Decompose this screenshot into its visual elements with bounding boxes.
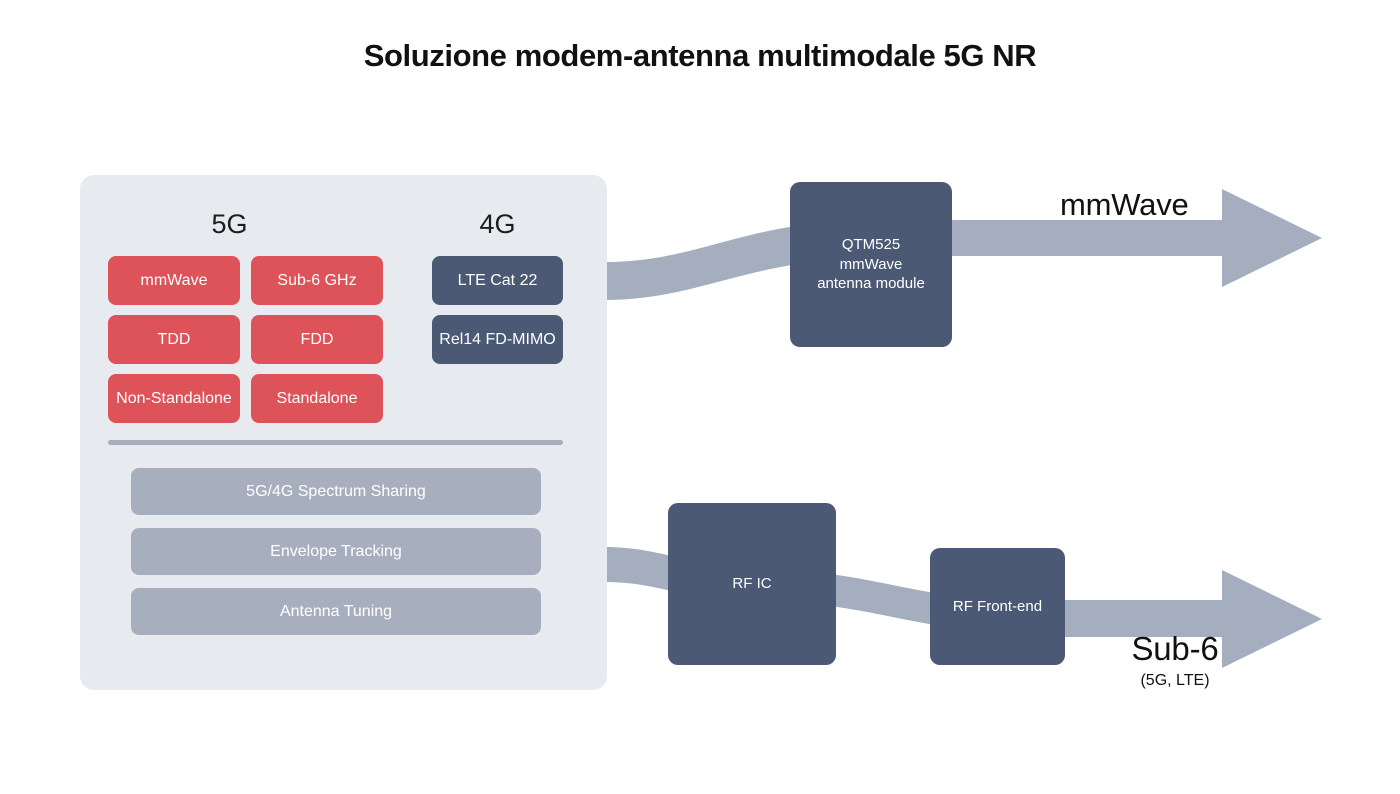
page-title: Soluzione modem-antenna multimodale 5G N…: [0, 38, 1400, 74]
chip-rf-front-end[interactable]: RF Front-end: [930, 548, 1065, 665]
flow-label-mmwave: mmWave: [1060, 187, 1189, 223]
pill-fdd[interactable]: FDD: [251, 315, 383, 364]
diagram-canvas: Soluzione modem-antenna multimodale 5G N…: [0, 0, 1400, 794]
chip-qtm525-label: QTM525mmWaveantenna module: [817, 235, 925, 294]
pill-standalone[interactable]: Standalone: [251, 374, 383, 423]
flow-label-sub6: Sub-6: [1110, 630, 1240, 668]
feature-bar-spectrum-sharing[interactable]: 5G/4G Spectrum Sharing: [131, 468, 541, 515]
pill-mmwave[interactable]: mmWave: [108, 256, 240, 305]
pill-sub6-ghz[interactable]: Sub-6 GHz: [251, 256, 383, 305]
column-heading-5g: 5G: [107, 209, 352, 240]
chip-rf-ic-label: RF IC: [732, 574, 771, 594]
chip-rf-ic[interactable]: RF IC: [668, 503, 836, 665]
chip-qtm525-mmwave-antenna-module[interactable]: QTM525mmWaveantenna module: [790, 182, 952, 347]
panel-divider: [108, 440, 563, 445]
feature-bar-antenna-tuning[interactable]: Antenna Tuning: [131, 588, 541, 635]
pill-rel14-fd-mimo[interactable]: Rel14 FD-MIMO: [432, 315, 563, 364]
chip-rf-front-end-label: RF Front-end: [953, 597, 1042, 617]
column-heading-4g: 4G: [432, 209, 563, 240]
pill-tdd[interactable]: TDD: [108, 315, 240, 364]
feature-bar-envelope-tracking[interactable]: Envelope Tracking: [131, 528, 541, 575]
flow-sublabel-sub6: (5G, LTE): [1110, 672, 1240, 690]
pill-lte-cat-22[interactable]: LTE Cat 22: [432, 256, 563, 305]
pill-non-standalone[interactable]: Non-Standalone: [108, 374, 240, 423]
